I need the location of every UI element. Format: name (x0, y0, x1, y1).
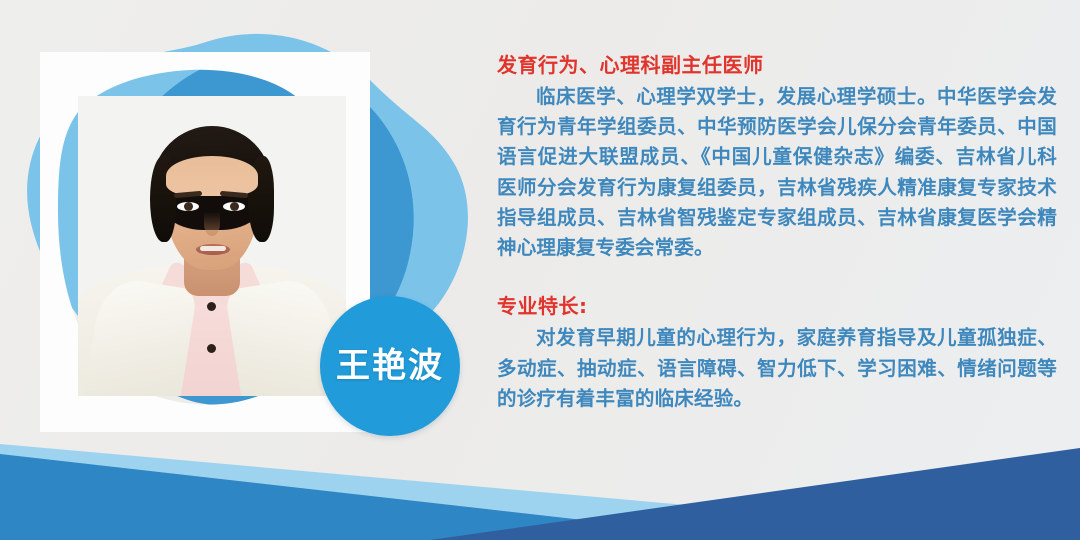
nose (204, 212, 220, 236)
section-spacer (497, 263, 1057, 293)
section-body-specialties: 对发育早期儿童的心理行为，家庭养育指导及儿童孤独症、多动症、抽动症、语言障碍、智… (497, 323, 1057, 414)
bottom-decorative-bands (0, 420, 1080, 540)
teeth (200, 246, 226, 251)
eye-right (223, 202, 245, 211)
doctor-name-text: 王艳波 (336, 349, 444, 383)
doctor-bio-text-column: 发育行为、心理科副主任医师 临床医学、心理学双学士，发展心理学硕士。中华医学会发… (497, 52, 1057, 414)
shirt-button-bottom (207, 344, 216, 353)
section-title-credentials: 发育行为、心理科副主任医师 (497, 52, 1057, 78)
doctor-portrait-image (78, 96, 346, 396)
section-title-specialties: 专业特长: (497, 293, 1057, 319)
shirt-button-top (207, 302, 216, 311)
section-body-credentials: 临床医学、心理学双学士，发展心理学硕士。中华医学会发育行为青年学组委员、中华预防… (497, 82, 1057, 263)
pupil-left (184, 202, 193, 211)
forehead (166, 156, 258, 196)
eye-left (177, 202, 199, 211)
doctor-name-badge: 王艳波 (320, 296, 460, 436)
portrait-photo-container (78, 96, 346, 396)
doctor-profile-card: 王艳波 发育行为、心理科副主任医师 临床医学、心理学双学士，发展心理学硕士。中华… (0, 0, 1080, 540)
pupil-right (230, 202, 239, 211)
